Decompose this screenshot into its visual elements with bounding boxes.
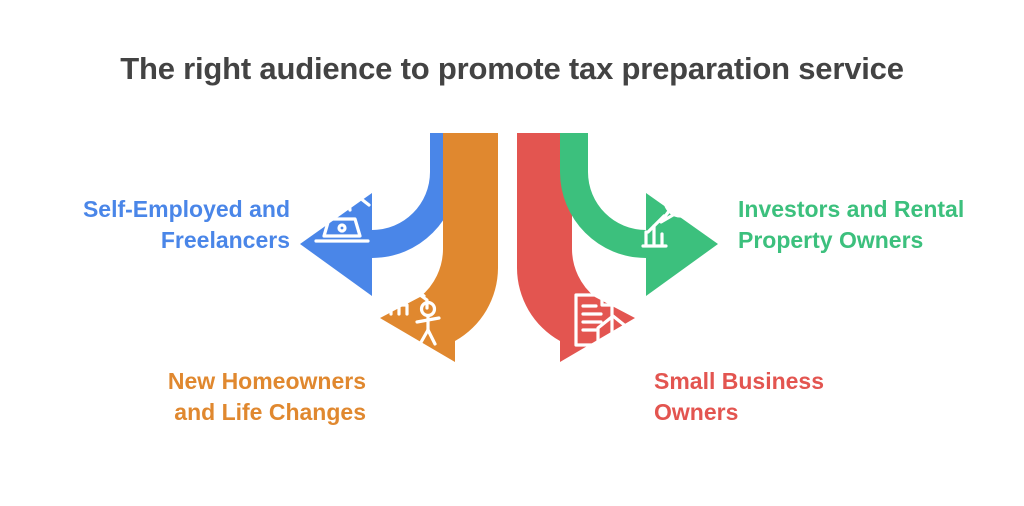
- label-new-homeowners-line2: and Life Changes: [54, 397, 366, 428]
- branch-investors[interactable]: [560, 133, 718, 296]
- label-investors: Investors and Rental Property Owners: [738, 194, 1024, 255]
- infographic-canvas: The right audience to promote tax prepar…: [0, 0, 1024, 506]
- label-investors-line1: Investors and Rental: [738, 194, 1024, 225]
- arrow-shape-investors: [560, 133, 718, 296]
- label-small-business-line2: Owners: [654, 397, 954, 428]
- label-new-homeowners: New Homeowners and Life Changes: [54, 366, 366, 427]
- label-small-business-line1: Small Business: [654, 366, 954, 397]
- arrow-shape-self-employed: [300, 133, 458, 296]
- label-self-employed-line2: Freelancers: [10, 225, 290, 256]
- label-small-business: Small Business Owners: [654, 366, 954, 427]
- label-investors-line2: Property Owners: [738, 225, 1024, 256]
- label-new-homeowners-line1: New Homeowners: [54, 366, 366, 397]
- branch-self-employed[interactable]: [300, 133, 458, 296]
- label-self-employed-line1: Self-Employed and: [10, 194, 290, 225]
- label-self-employed: Self-Employed and Freelancers: [10, 194, 290, 255]
